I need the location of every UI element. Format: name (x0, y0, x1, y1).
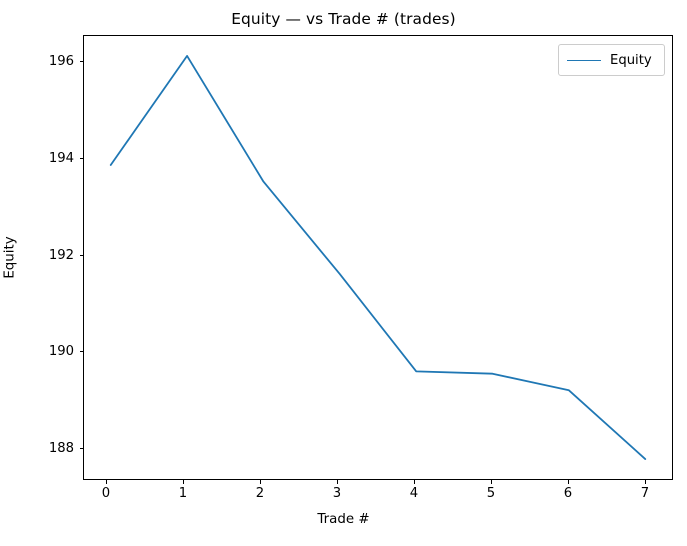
y-tick-label-196: 196 (14, 54, 74, 69)
y-tick-label-188: 188 (14, 441, 74, 456)
y-tick-label-194: 194 (14, 151, 74, 166)
plot-area (83, 35, 673, 480)
x-tick-label-5: 5 (471, 486, 511, 501)
x-tick-mark-6 (568, 480, 569, 484)
x-tick-mark-2 (260, 480, 261, 484)
x-tick-label-6: 6 (548, 486, 588, 501)
x-tick-mark-0 (106, 480, 107, 484)
x-tick-label-0: 0 (86, 486, 126, 501)
x-tick-label-7: 7 (625, 486, 665, 501)
x-tick-mark-1 (183, 480, 184, 484)
y-tick-label-190: 190 (14, 344, 74, 359)
x-axis-label: Trade # (0, 512, 687, 527)
chart-title: Equity — vs Trade # (trades) (0, 10, 687, 28)
x-tick-mark-4 (414, 480, 415, 484)
x-tick-label-1: 1 (163, 486, 203, 501)
y-tick-label-192: 192 (14, 248, 74, 263)
equity-series-line (111, 56, 646, 459)
x-tick-mark-7 (645, 480, 646, 484)
chart-legend[interactable]: Equity (558, 44, 665, 76)
x-tick-mark-5 (491, 480, 492, 484)
legend-label-equity: Equity (610, 53, 652, 68)
x-tick-mark-3 (337, 480, 338, 484)
equity-line-chart (84, 36, 672, 479)
x-tick-label-3: 3 (317, 486, 357, 501)
x-tick-label-2: 2 (240, 486, 280, 501)
chart-figure: Equity — vs Trade # (trades) Equity Trad… (0, 0, 687, 546)
legend-line-swatch-equity (567, 60, 601, 61)
x-tick-label-4: 4 (394, 486, 434, 501)
